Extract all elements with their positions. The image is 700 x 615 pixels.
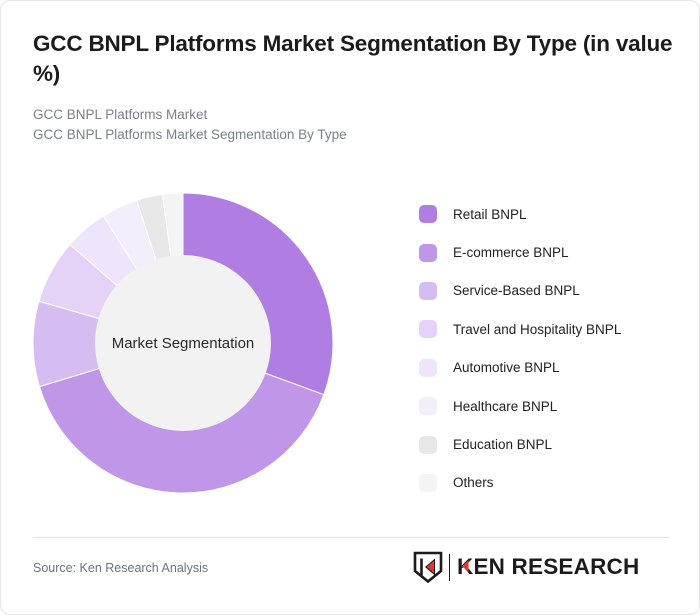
legend-item-label: Automotive BNPL <box>453 360 560 375</box>
donut-center-disc <box>95 255 271 431</box>
chart-legend: Retail BNPLE-commerce BNPLService-Based … <box>419 195 684 502</box>
legend-item[interactable]: Education BNPL <box>419 425 684 463</box>
donut-chart-svg <box>33 193 333 493</box>
legend-item[interactable]: E-commerce BNPL <box>419 233 684 271</box>
footer-divider <box>33 537 669 538</box>
legend-item-label: Education BNPL <box>453 437 552 452</box>
brand-logo: KEN RESEARCH <box>413 550 670 584</box>
legend-item[interactable]: Others <box>419 464 684 502</box>
plot-area: Market Segmentation Retail BNPLE-commerc… <box>1 181 700 511</box>
breadcrumb-line-segmentation: GCC BNPL Platforms Market Segmentation B… <box>33 125 673 145</box>
breadcrumb: GCC BNPL Platforms Market GCC BNPL Platf… <box>33 105 673 145</box>
legend-swatch-icon <box>419 397 437 415</box>
legend-swatch-icon <box>419 282 437 300</box>
legend-swatch-icon <box>419 320 437 338</box>
legend-swatch-icon <box>419 474 437 492</box>
legend-item[interactable]: Travel and Hospitality BNPL <box>419 310 684 348</box>
donut-chart: Market Segmentation <box>33 193 333 493</box>
legend-item-label: E-commerce BNPL <box>453 245 569 260</box>
legend-item[interactable]: Healthcare BNPL <box>419 387 684 425</box>
legend-item[interactable]: Service-Based BNPL <box>419 272 684 310</box>
brand-wordmark: KEN RESEARCH <box>457 554 669 580</box>
legend-swatch-icon <box>419 359 437 377</box>
page-title: GCC BNPL Platforms Market Segmentation B… <box>33 29 673 89</box>
legend-swatch-icon <box>419 436 437 454</box>
brand-divider <box>449 554 451 581</box>
legend-item-label: Healthcare BNPL <box>453 399 557 414</box>
legend-item[interactable]: Retail BNPL <box>419 195 684 233</box>
legend-swatch-icon <box>419 205 437 223</box>
ken-research-shield-k-icon <box>413 551 443 583</box>
chart-card: GCC BNPL Platforms Market Segmentation B… <box>0 0 700 615</box>
breadcrumb-line-market: GCC BNPL Platforms Market <box>33 105 673 125</box>
chart-header: GCC BNPL Platforms Market Segmentation B… <box>33 29 673 145</box>
legend-swatch-icon <box>419 244 437 262</box>
brand-wordmark-text: KEN RESEARCH <box>457 554 639 579</box>
source-note: Source: Ken Research Analysis <box>33 561 208 575</box>
legend-item-label: Service-Based BNPL <box>453 283 580 298</box>
legend-item[interactable]: Automotive BNPL <box>419 349 684 387</box>
legend-item-label: Others <box>453 475 494 490</box>
legend-item-label: Retail BNPL <box>453 207 527 222</box>
legend-item-label: Travel and Hospitality BNPL <box>453 322 621 337</box>
